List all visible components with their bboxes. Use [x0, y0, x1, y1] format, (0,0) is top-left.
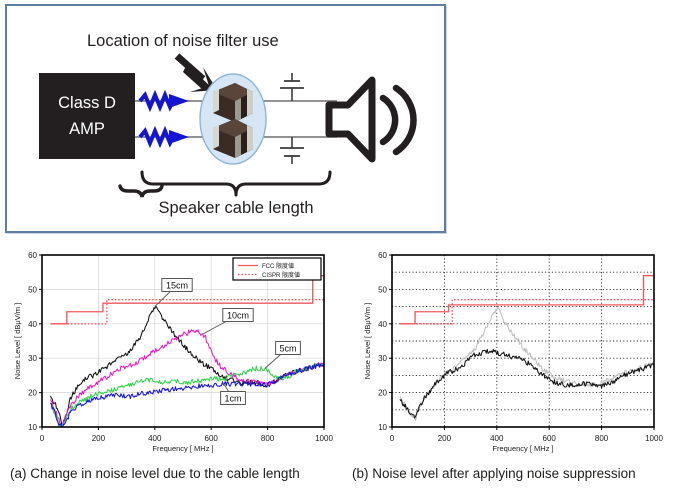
cable-length-brace: [142, 172, 330, 195]
amp-label-line1: Class D: [58, 94, 116, 112]
callout-label-15cm: 15cm: [166, 280, 188, 290]
x-tick-label: 0: [390, 434, 395, 443]
y-tick-label: 10: [378, 423, 387, 432]
y-tick-label: 20: [378, 389, 387, 398]
x-tick-label: 1000: [315, 434, 333, 443]
x-axis-label: Frequency [ MHz ]: [492, 444, 553, 453]
y-tick-label: 50: [378, 285, 387, 294]
x-tick-label: 1000: [645, 434, 663, 443]
legend-label: CISPR 限度値: [262, 271, 300, 279]
chart-a-svg: 10203040506002004006008001000Frequency […: [0, 243, 340, 463]
callout-label-1cm: 1cm: [224, 393, 241, 403]
y-axis-label: Noise Level [ dBμV/m ]: [13, 303, 22, 379]
x-tick-label: 800: [595, 434, 609, 443]
x-tick-label: 600: [543, 434, 557, 443]
chart-b-svg: 10203040506002004006008001000Frequency […: [340, 243, 674, 463]
x-tick-label: 800: [261, 434, 275, 443]
x-tick-label: 400: [148, 434, 162, 443]
caption-b: (b) Noise level after applying noise sup…: [352, 466, 636, 481]
diagram-title: Location of noise filter use: [87, 32, 279, 50]
noise-filter-diagram-panel: Location of noise filter use Class D AMP: [5, 4, 446, 233]
y-tick-label: 20: [28, 389, 37, 398]
y-tick-label: 60: [28, 251, 37, 260]
x-tick-label: 0: [40, 434, 45, 443]
x-axis-label: Frequency [ MHz ]: [152, 444, 213, 453]
speaker-icon: [329, 80, 414, 159]
y-tick-label: 10: [28, 423, 37, 432]
y-tick-label: 30: [378, 354, 387, 363]
x-tick-label: 400: [490, 434, 504, 443]
plot-area: [392, 255, 654, 427]
capacitor-icon: [280, 137, 304, 164]
y-tick-label: 50: [28, 285, 37, 294]
noise-arrow-icon: [140, 130, 189, 144]
y-tick-label: 40: [378, 320, 387, 329]
diagram-canvas: Location of noise filter use Class D AMP: [7, 6, 444, 231]
brace-label: Speaker cable length: [158, 199, 313, 217]
capacitor-icon: [280, 73, 304, 101]
x-tick-label: 600: [205, 434, 219, 443]
amp-label-line2: AMP: [69, 120, 105, 138]
chart-a-container: 10203040506002004006008001000Frequency […: [0, 243, 340, 463]
y-tick-label: 30: [28, 354, 37, 363]
y-axis-label: Noise Level [ dBμV/m ]: [363, 303, 372, 379]
x-tick-label: 200: [438, 434, 452, 443]
callout-label-5cm: 5cm: [279, 343, 296, 353]
callout-label-10cm: 10cm: [227, 310, 249, 320]
legend-label: FCC 限度値: [262, 262, 294, 270]
caption-a: (a) Change in noise level due to the cab…: [10, 466, 300, 481]
y-tick-label: 40: [28, 320, 37, 329]
class-d-amp-block: Class D AMP: [39, 73, 135, 159]
noise-arrow-icon: [140, 94, 189, 108]
chart-b-container: 10203040506002004006008001000Frequency […: [340, 243, 674, 463]
curly-brace-icon: [120, 186, 162, 197]
x-tick-label: 200: [92, 434, 106, 443]
y-tick-label: 60: [378, 251, 387, 260]
